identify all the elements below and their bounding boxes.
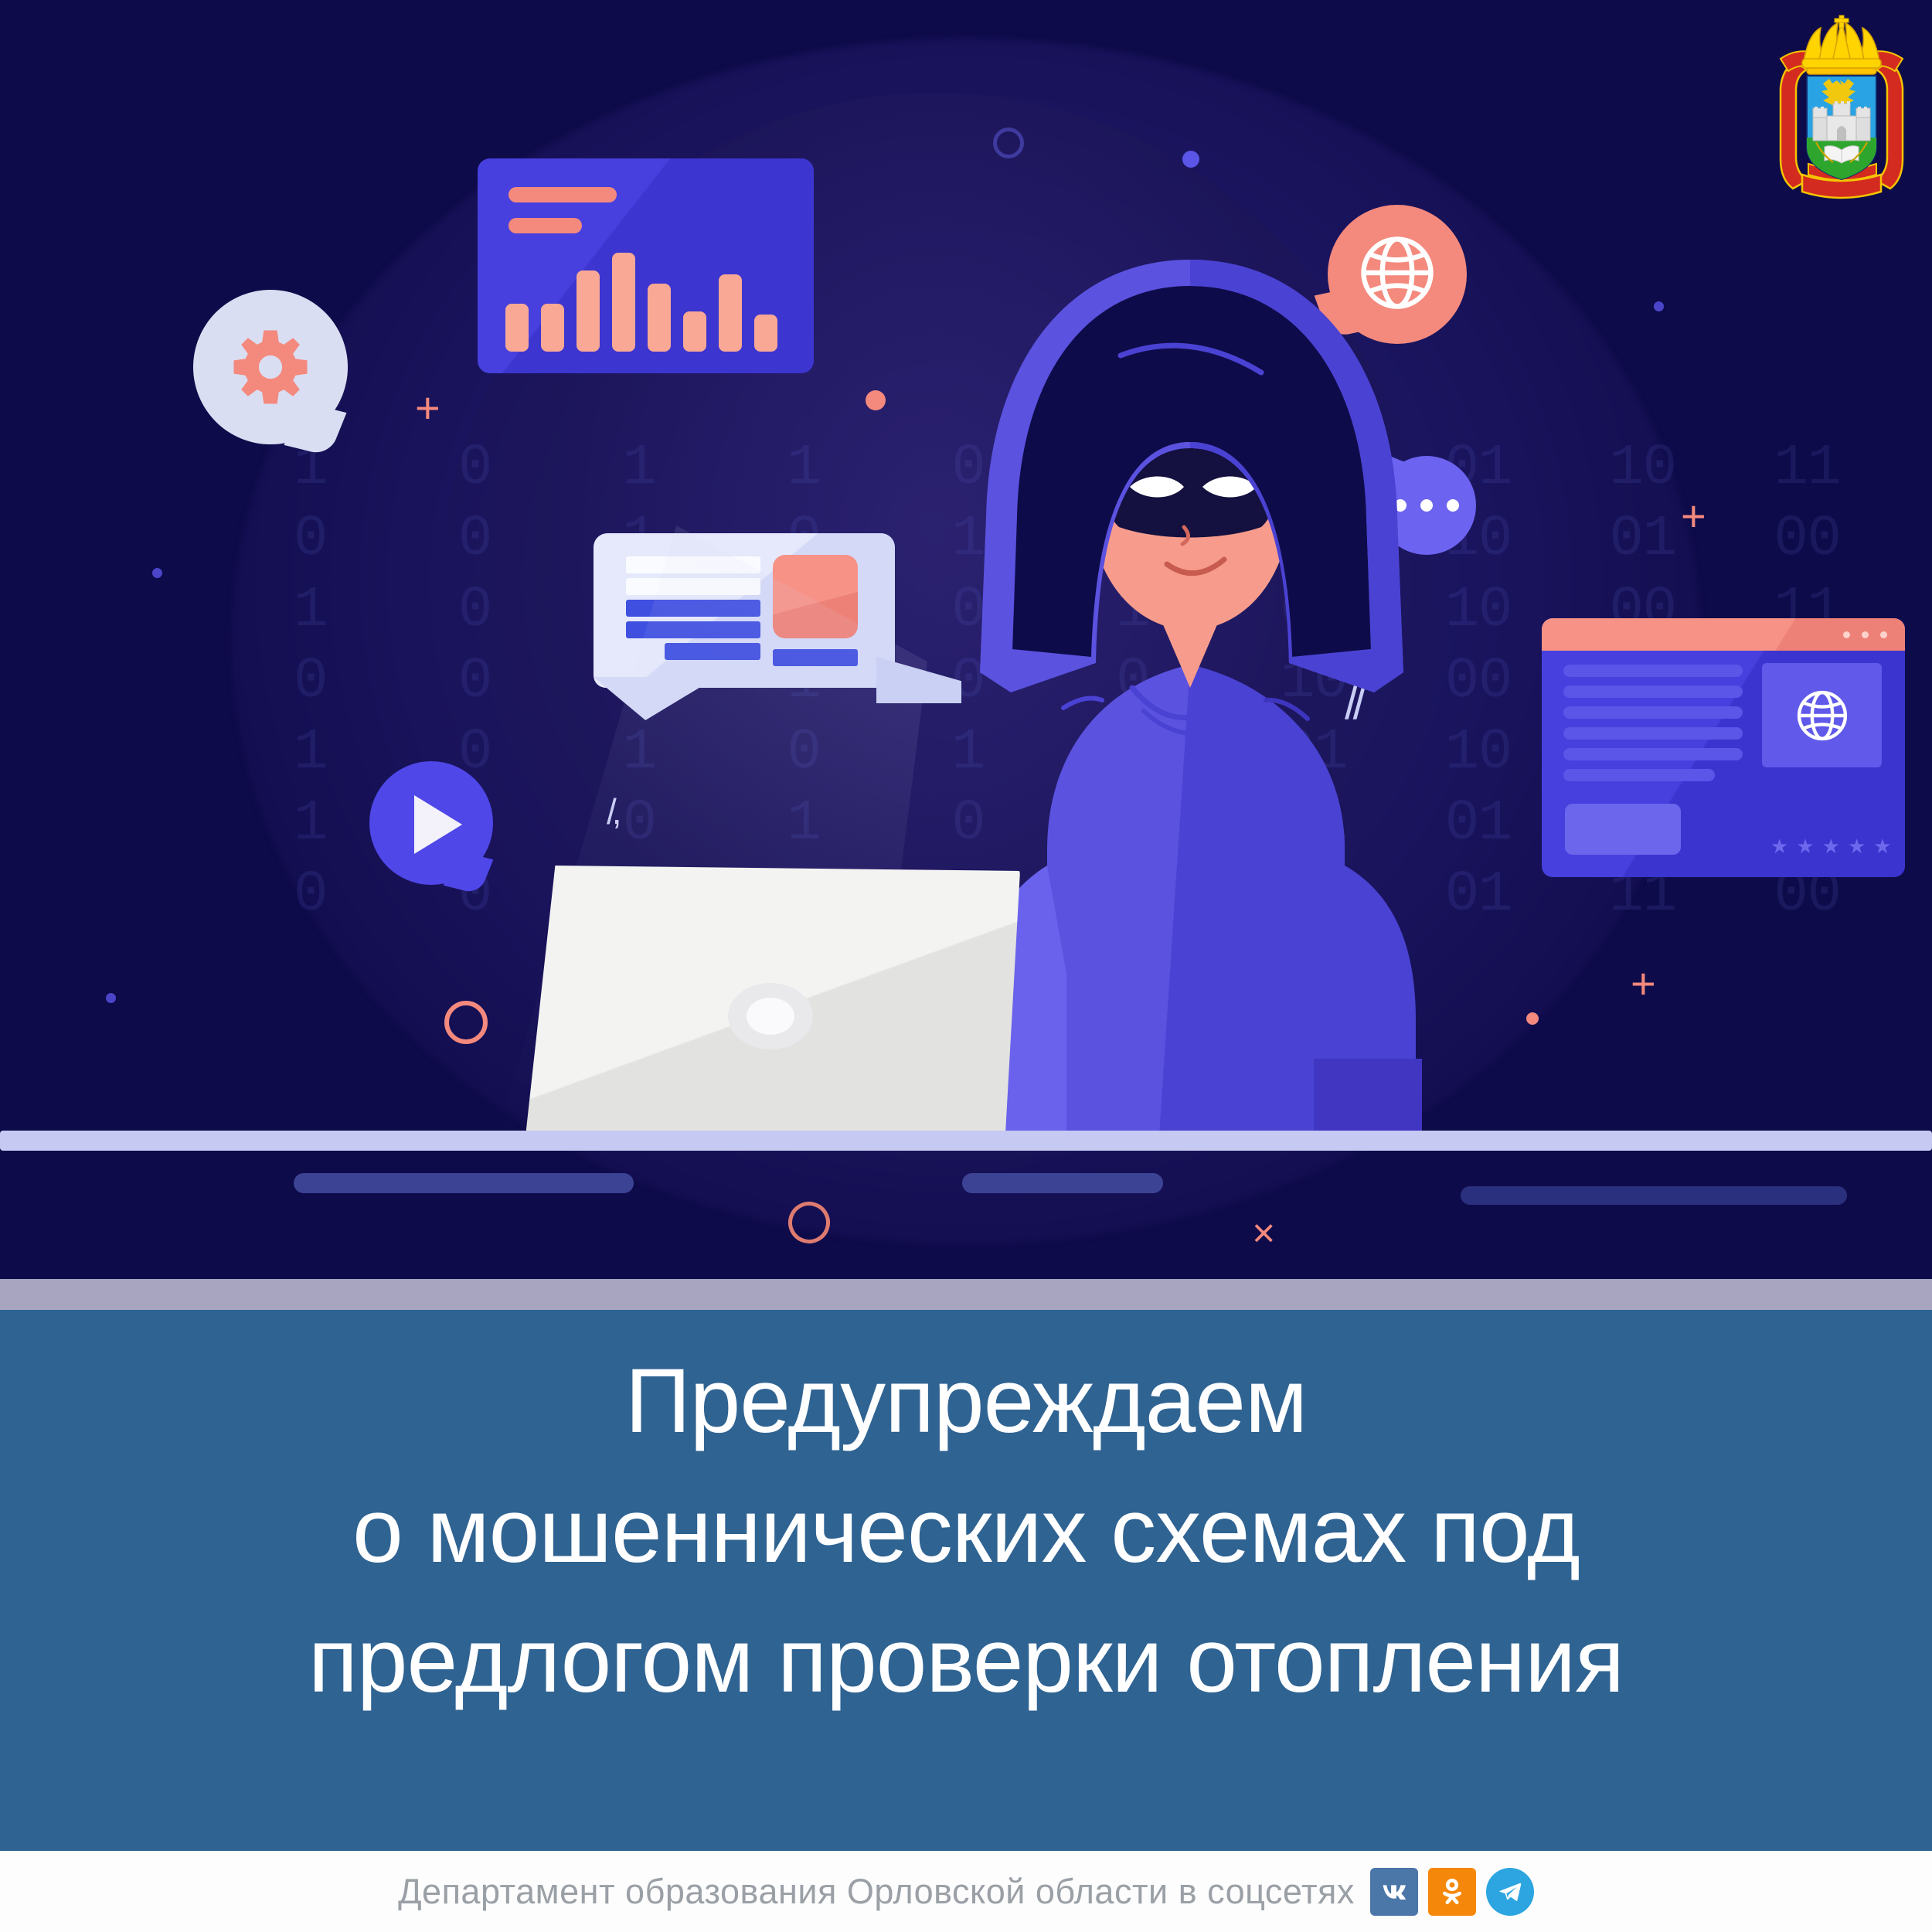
browser-text-line — [1563, 748, 1743, 760]
telegram-glyph — [1493, 1875, 1527, 1909]
star-icon: ★ — [1822, 836, 1840, 856]
crown-icon — [1802, 15, 1881, 74]
plus-mark-icon: + — [1631, 962, 1656, 1005]
vk-icon[interactable] — [1370, 1868, 1418, 1916]
chart-bar — [648, 284, 671, 352]
headline-line-2: о мошеннических схемах под — [352, 1466, 1580, 1596]
star-icon: ★ — [1770, 836, 1788, 856]
star-icon: ★ — [1848, 836, 1866, 856]
window-dot-icon — [1843, 631, 1850, 638]
footer-text: Департамент образования Орловской област… — [398, 1872, 1355, 1912]
dot-icon — [1182, 151, 1199, 168]
browser-text-line — [1563, 665, 1743, 677]
oryol-oblast-coat-of-arms — [1768, 14, 1915, 207]
headline-line-1: Предупреждаем — [625, 1336, 1307, 1466]
laptop-lid — [526, 866, 1020, 1136]
dot-icon — [866, 390, 886, 410]
shield — [1807, 76, 1876, 179]
dot-icon — [1654, 301, 1664, 311]
dot-icon — [1526, 1012, 1539, 1025]
hacker-shoulder-seam — [1063, 699, 1102, 708]
plus-mark-icon: + — [1681, 495, 1706, 538]
circle-outline-icon — [444, 1001, 488, 1044]
headline-banner: Предупреждаем о мошеннических схемах под… — [0, 1310, 1932, 1851]
chart-bar — [541, 304, 564, 352]
gear-icon — [229, 325, 312, 409]
laptop — [526, 866, 1020, 1136]
play-speech-bubble — [369, 761, 493, 885]
browser-text-line — [1563, 769, 1715, 781]
chart-bar — [719, 274, 742, 352]
chart-card — [478, 158, 814, 373]
chart-bar — [577, 270, 600, 352]
browser-text-line — [1563, 727, 1743, 740]
desk-shadow-bar — [1461, 1186, 1847, 1205]
chart-bar — [505, 304, 529, 352]
telegram-icon[interactable] — [1486, 1868, 1534, 1916]
rating-stars: ★ ★ ★ ★ ★ — [1770, 836, 1892, 856]
browser-text-line — [1563, 706, 1743, 719]
dot-icon — [106, 993, 116, 1003]
star-icon: ★ — [1873, 836, 1891, 856]
browser-window: ★ ★ ★ ★ ★ — [1542, 618, 1905, 877]
plus-mark-icon: + — [415, 386, 440, 430]
browser-titlebar — [1542, 618, 1905, 651]
desk-surface-left — [77, 1131, 205, 1151]
chart-bar — [754, 315, 777, 352]
play-icon — [414, 795, 462, 854]
star-icon: ★ — [1796, 836, 1814, 856]
chart-bar — [612, 253, 635, 352]
laptop-logo-icon — [728, 983, 813, 1049]
x-mark-icon: × — [1252, 1213, 1275, 1253]
gear-speech-bubble — [193, 290, 348, 444]
illustration-area: 1 0 1 1 0 1 1 0 1 1 0 0 1 0 1 0 0 1 0 0 … — [0, 0, 1932, 1279]
chart-bar — [683, 311, 706, 352]
chart-bars — [505, 213, 788, 352]
circle-outline-icon — [993, 128, 1024, 158]
divider — [0, 1279, 1932, 1310]
dot-icon — [152, 568, 162, 578]
footer-bar: Департамент образования Орловской област… — [0, 1851, 1932, 1932]
social-links — [1370, 1868, 1534, 1916]
browser-text-line — [1563, 685, 1743, 698]
window-dot-icon — [1880, 631, 1887, 638]
window-dot-icon — [1862, 631, 1869, 638]
chart-title-bar — [509, 187, 617, 202]
hacker-cuff — [1314, 1059, 1422, 1136]
ok-glyph — [1435, 1875, 1469, 1909]
vk-glyph — [1376, 1874, 1412, 1910]
browser-cta-button[interactable] — [1565, 804, 1681, 855]
globe-icon — [1788, 682, 1856, 750]
poster-root: 1 0 1 1 0 1 1 0 1 1 0 0 1 0 1 0 0 1 0 0 … — [0, 0, 1932, 1932]
desk-shadow-bar — [294, 1173, 634, 1193]
ok-icon[interactable] — [1428, 1868, 1476, 1916]
browser-thumbnail — [1762, 663, 1882, 767]
headline-line-3: предлогом проверки отопления — [308, 1596, 1624, 1726]
desk-shadow-bar — [962, 1173, 1163, 1193]
desk-surface — [0, 1131, 1932, 1151]
